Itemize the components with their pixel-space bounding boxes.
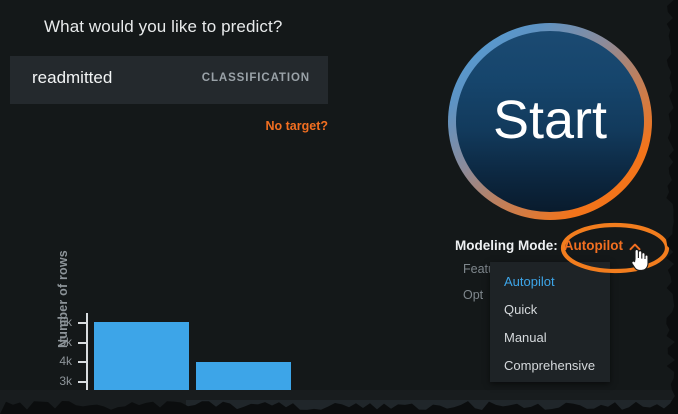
- chart-y-tick: [78, 381, 86, 383]
- target-distribution-chart: Number of rows 01k2k3k4k5k6k FalseTrue r…: [0, 150, 330, 335]
- dropdown-item-autopilot[interactable]: Autopilot: [490, 268, 610, 296]
- target-type-badge: CLASSIFICATION: [202, 72, 310, 84]
- modeling-mode-label: Modeling Mode:: [455, 238, 558, 253]
- chart-y-tick: [78, 342, 86, 344]
- chart-y-tick: [78, 322, 86, 324]
- torn-edge-right: [662, 0, 678, 414]
- start-button-face: Start: [456, 31, 644, 212]
- chart-y-tick-label: 4k: [24, 354, 72, 368]
- dropdown-item-quick[interactable]: Quick: [490, 296, 610, 324]
- dropdown-item-manual[interactable]: Manual: [490, 324, 610, 352]
- datarobot-target-screen: What would you like to predict? readmitt…: [0, 0, 678, 414]
- modeling-mode-dropdown[interactable]: AutopilotQuickManualComprehensive: [490, 262, 610, 382]
- start-button-label: Start: [493, 93, 607, 147]
- target-feature-box[interactable]: readmitted CLASSIFICATION: [10, 56, 328, 104]
- optimization-metric-label: Opt: [463, 288, 483, 302]
- start-button[interactable]: Start: [448, 23, 652, 220]
- chart-y-tick-label: 5k: [24, 335, 72, 349]
- no-target-link[interactable]: No target?: [266, 119, 329, 133]
- dropdown-item-comprehensive[interactable]: Comprehensive: [490, 352, 610, 380]
- modeling-mode-row: Modeling Mode: Autopilot: [455, 238, 641, 253]
- bottom-band-secondary: [186, 400, 678, 414]
- chevron-up-icon[interactable]: [629, 241, 641, 253]
- page-title: What would you like to predict?: [44, 17, 282, 37]
- target-feature-name: readmitted: [32, 68, 112, 88]
- chart-y-tick-label: 6k: [24, 315, 72, 329]
- start-button-wrap: Start: [448, 23, 652, 220]
- modeling-mode-value[interactable]: Autopilot: [564, 238, 623, 253]
- chart-y-tick-label: 3k: [24, 374, 72, 388]
- chart-y-tick: [78, 361, 86, 363]
